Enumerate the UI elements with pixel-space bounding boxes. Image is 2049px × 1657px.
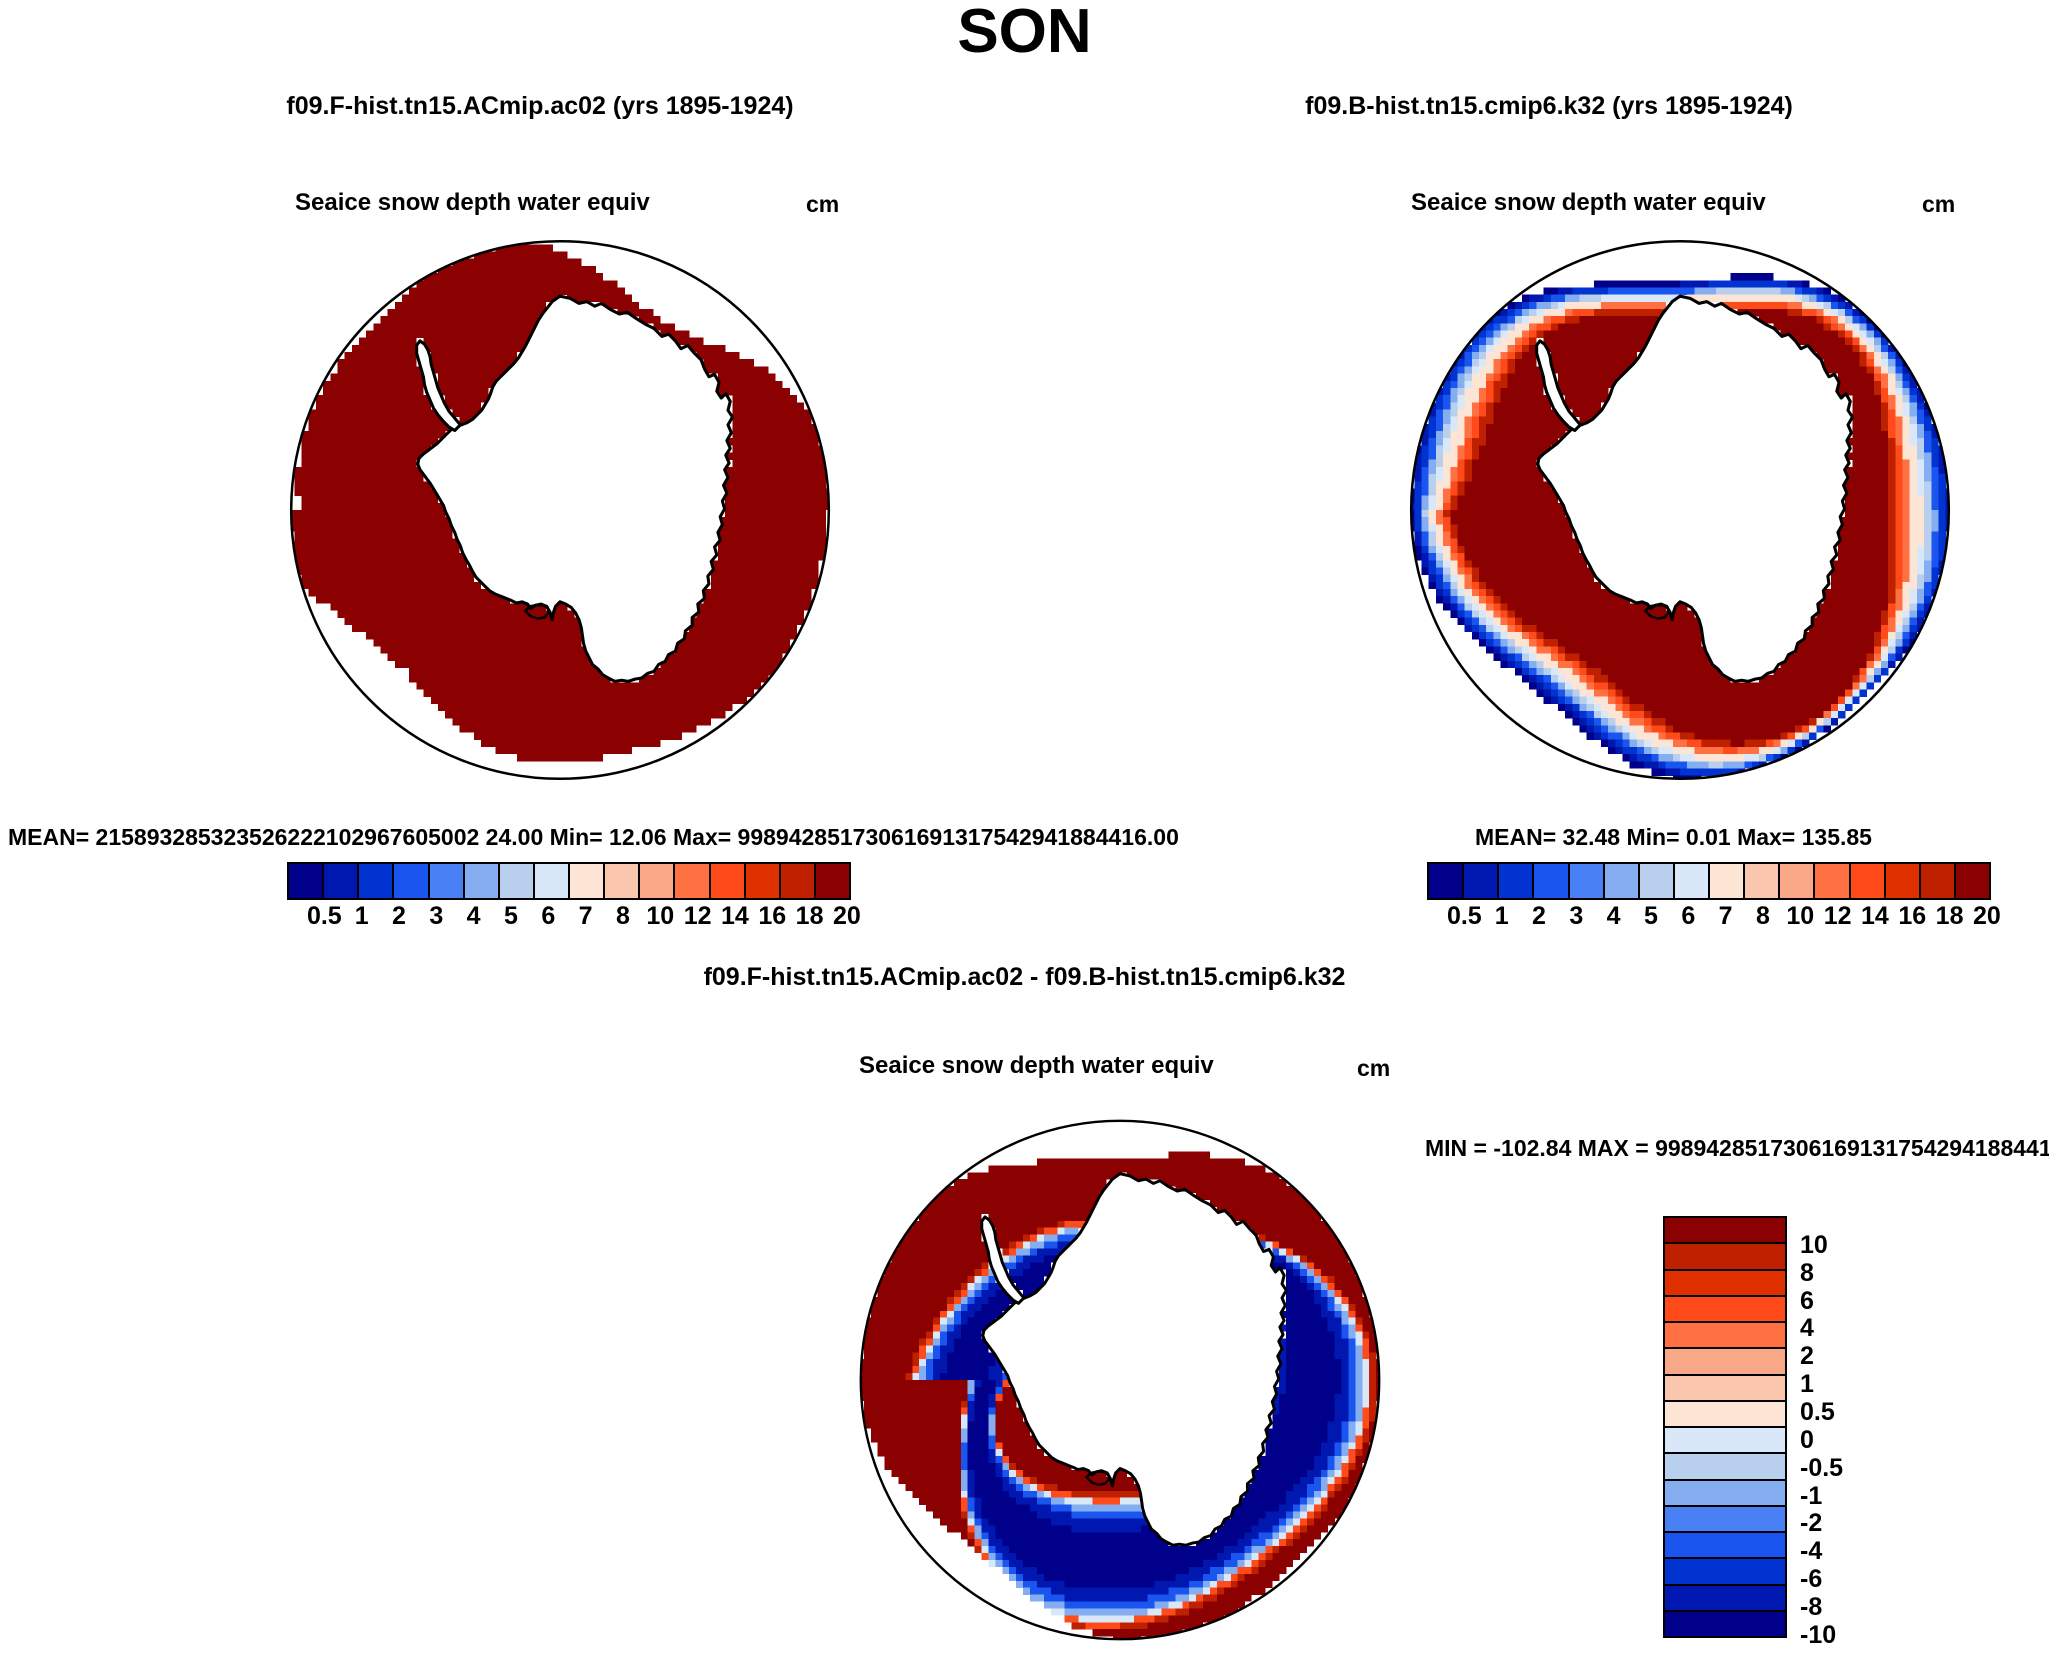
colorbar-difference-labels: 10864210.50-0.5-1-2-4-6-8-10 <box>1800 1216 1843 1634</box>
colorbar-segment <box>1886 864 1921 898</box>
antarctic-map-left <box>280 230 840 790</box>
colorbar-segment <box>465 864 500 898</box>
colorbar-tick-label: 0.5 <box>1446 902 1483 931</box>
colorbar-segment <box>1570 864 1605 898</box>
colorbar-segment <box>1665 1507 1785 1533</box>
colorbar-tick-label: 20 <box>828 902 865 931</box>
colorbar-tick-label: 20 <box>1968 902 2005 931</box>
colorbar-segment <box>1675 864 1710 898</box>
map-svg <box>280 230 840 790</box>
colorbar-tick-label: 1 <box>1800 1369 1843 1397</box>
colorbar-tick-label: 18 <box>791 902 828 931</box>
colorbar-tick-label: 10 <box>1782 902 1819 931</box>
colorbar-tick-label: 12 <box>679 902 716 931</box>
colorbar-tick-label: -1 <box>1800 1481 1843 1509</box>
colorbar-tick-label: 2 <box>1520 902 1557 931</box>
colorbar-tick-label: 6 <box>530 902 567 931</box>
colorbar-segment <box>605 864 640 898</box>
variable-label-right: Seaice snow depth water equiv <box>1411 189 1766 217</box>
colorbar-tick-label: -4 <box>1800 1536 1843 1564</box>
colorbar-tick-label: 6 <box>1800 1286 1843 1314</box>
colorbar-segment <box>1429 864 1464 898</box>
panel-title-left: f09.F-hist.tn15.ACmip.ac02 (yrs 1895-192… <box>40 92 1040 121</box>
map-svg <box>850 1110 1390 1650</box>
colorbar-tick-label: 18 <box>1931 902 1968 931</box>
colorbar-segment <box>1956 864 1989 898</box>
page-title: SON <box>0 0 2049 67</box>
stats-right: MEAN= 32.48 Min= 0.01 Max= 135.85 <box>1475 824 1872 851</box>
colorbar-segment <box>324 864 359 898</box>
units-label-left: cm <box>806 191 839 218</box>
colorbar-tick-label: 12 <box>1819 902 1856 931</box>
stats-difference: MIN = -102.84 MAX = 99894285173061691317… <box>1425 1135 2049 1162</box>
colorbar-segment <box>535 864 570 898</box>
colorbar-segment <box>1464 864 1499 898</box>
colorbar-segment <box>1851 864 1886 898</box>
colorbar-segment <box>1665 1428 1785 1454</box>
colorbar-segment <box>289 864 324 898</box>
colorbar-tick-label: 1 <box>343 902 380 931</box>
colorbar-right-labels: 0.512345678101214161820 <box>1427 902 1987 931</box>
colorbar-tick-label: 8 <box>1744 902 1781 931</box>
colorbar-segment <box>1665 1244 1785 1270</box>
colorbar-tick-label: -0.5 <box>1800 1453 1843 1481</box>
antarctic-map-right <box>1400 230 1960 790</box>
colorbar-segment <box>1640 864 1675 898</box>
colorbar-tick-label: -6 <box>1800 1564 1843 1592</box>
colorbar-tick-label: 6 <box>1670 902 1707 931</box>
map-svg <box>1400 230 1960 790</box>
colorbar-segment <box>1665 1586 1785 1612</box>
colorbar-tick-label: 10 <box>642 902 679 931</box>
colorbar-segment <box>675 864 710 898</box>
colorbar-segment <box>1665 1271 1785 1297</box>
colorbar-tick-label: 5 <box>492 902 529 931</box>
colorbar-segment <box>816 864 849 898</box>
colorbar-tick-label: 1 <box>1483 902 1520 931</box>
colorbar-segment <box>394 864 429 898</box>
colorbar-left <box>287 862 851 900</box>
colorbar-tick-label: -10 <box>1800 1620 1843 1648</box>
units-label-right: cm <box>1922 191 1955 218</box>
colorbar-tick-label: 8 <box>604 902 641 931</box>
colorbar-segment <box>359 864 394 898</box>
colorbar-tick-label: 14 <box>716 902 753 931</box>
colorbar-segment <box>1665 1481 1785 1507</box>
colorbar-tick-label: 2 <box>380 902 417 931</box>
colorbar-tick-label: 4 <box>455 902 492 931</box>
colorbar-left-labels: 0.512345678101214161820 <box>287 902 847 931</box>
colorbar-tick-label: 3 <box>1558 902 1595 931</box>
colorbar-segment <box>781 864 816 898</box>
colorbar-tick-label: 16 <box>754 902 791 931</box>
colorbar-segment <box>1665 1297 1785 1323</box>
colorbar-segment <box>1665 1559 1785 1585</box>
colorbar-segment <box>1665 1349 1785 1375</box>
colorbar-segment <box>1665 1402 1785 1428</box>
colorbar-segment <box>430 864 465 898</box>
colorbar-tick-label: 7 <box>1707 902 1744 931</box>
colorbar-tick-label: -2 <box>1800 1509 1843 1537</box>
colorbar-segment <box>746 864 781 898</box>
colorbar-segment <box>1815 864 1850 898</box>
colorbar-tick-label: 0.5 <box>1800 1397 1843 1425</box>
panel-title-difference: f09.F-hist.tn15.ACmip.ac02 - f09.B-hist.… <box>0 963 2049 992</box>
colorbar-tick-label: 0 <box>1800 1425 1843 1453</box>
colorbar-segment <box>1665 1218 1785 1244</box>
colorbar-tick-label: 10 <box>1800 1230 1843 1258</box>
colorbar-tick-label: 8 <box>1800 1258 1843 1286</box>
colorbar-tick-label: 0.5 <box>306 902 343 931</box>
colorbar-tick-label: 3 <box>418 902 455 931</box>
colorbar-segment <box>1665 1612 1785 1636</box>
variable-label-left: Seaice snow depth water equiv <box>295 189 650 217</box>
colorbar-tick-label: 14 <box>1856 902 1893 931</box>
colorbar-tick-label: 2 <box>1800 1341 1843 1369</box>
colorbar-tick-label: 7 <box>567 902 604 931</box>
stats-left: MEAN= 215893285323526222102967605002 24.… <box>8 824 1179 851</box>
panel-title-right: f09.B-hist.tn15.cmip6.k32 (yrs 1895-1924… <box>1049 92 2049 121</box>
colorbar-segment <box>570 864 605 898</box>
colorbar-segment <box>1665 1323 1785 1349</box>
variable-label-difference: Seaice snow depth water equiv <box>859 1052 1214 1080</box>
colorbar-segment <box>1605 864 1640 898</box>
antarctic-map-difference <box>850 1110 1390 1650</box>
colorbar-right <box>1427 862 1991 900</box>
colorbar-tick-label: -8 <box>1800 1592 1843 1620</box>
colorbar-segment <box>1665 1533 1785 1559</box>
colorbar-segment <box>1665 1376 1785 1402</box>
colorbar-segment <box>1745 864 1780 898</box>
colorbar-segment <box>1921 864 1956 898</box>
colorbar-segment <box>1534 864 1569 898</box>
colorbar-segment <box>640 864 675 898</box>
colorbar-tick-label: 4 <box>1595 902 1632 931</box>
units-label-difference: cm <box>1357 1055 1390 1082</box>
colorbar-segment <box>1499 864 1534 898</box>
colorbar-segment <box>500 864 535 898</box>
colorbar-segment <box>1710 864 1745 898</box>
colorbar-segment <box>1780 864 1815 898</box>
colorbar-segment <box>1665 1454 1785 1480</box>
colorbar-segment <box>711 864 746 898</box>
colorbar-tick-label: 4 <box>1800 1314 1843 1342</box>
colorbar-tick-label: 5 <box>1632 902 1669 931</box>
colorbar-difference <box>1663 1216 1787 1638</box>
colorbar-tick-label: 16 <box>1894 902 1931 931</box>
